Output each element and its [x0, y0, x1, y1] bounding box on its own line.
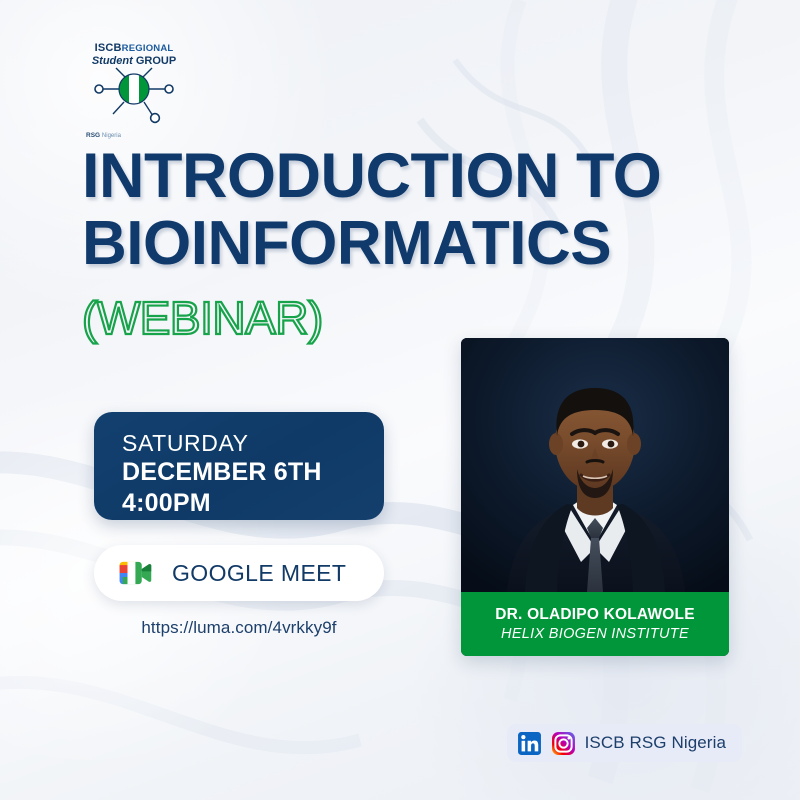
event-datetime-card: SATURDAY DECEMBER 6TH 4:00PM: [94, 412, 384, 520]
speaker-name-banner: DR. OLADIPO KOLAWOLE HELIX BIOGEN INSTIT…: [461, 592, 729, 656]
instagram-icon[interactable]: [551, 731, 576, 756]
speaker-name: DR. OLADIPO KOLAWOLE: [495, 606, 694, 624]
event-time: 4:00PM: [122, 488, 384, 518]
google-meet-label: GOOGLE MEET: [172, 560, 346, 587]
registration-link[interactable]: https://luma.com/4vrkky9f: [94, 618, 384, 638]
logo-iscb-text: ISCB: [95, 42, 122, 54]
logo-regional-text: REGIONAL: [122, 43, 174, 54]
logo-line-1: ISCBREGIONAL: [84, 42, 184, 54]
logo-caption-nigeria: Nigeria: [102, 133, 121, 139]
logo-caption: RSG Nigeria: [86, 132, 121, 139]
event-day: SATURDAY: [122, 430, 384, 457]
title-line-1: INTRODUCTION TO: [82, 146, 742, 208]
speaker-organization: HELIX BIOGEN INSTITUTE: [501, 626, 689, 642]
google-meet-icon: [118, 557, 156, 589]
linkedin-icon[interactable]: [517, 731, 542, 756]
speaker-card: DR. OLADIPO KOLAWOLE HELIX BIOGEN INSTIT…: [461, 338, 729, 656]
social-handle-bar: ISCB RSG Nigeria: [507, 724, 742, 762]
event-flyer: ISCBREGIONAL Student GROUP: [0, 0, 800, 800]
page-title: INTRODUCTION TO BIOINFORMATICS: [82, 146, 742, 274]
speaker-photo: [461, 338, 729, 592]
google-meet-button[interactable]: GOOGLE MEET: [94, 545, 384, 601]
logo-caption-rsg: RSG: [86, 132, 100, 139]
event-date: DECEMBER 6TH: [122, 457, 384, 488]
organization-logo: ISCBREGIONAL Student GROUP: [84, 36, 184, 136]
title-line-2: BIOINFORMATICS: [82, 214, 742, 275]
subtitle-webinar: (WEBINAR): [82, 291, 323, 345]
logo-network-mark: [86, 66, 182, 128]
social-handle-label: ISCB RSG Nigeria: [585, 733, 726, 753]
